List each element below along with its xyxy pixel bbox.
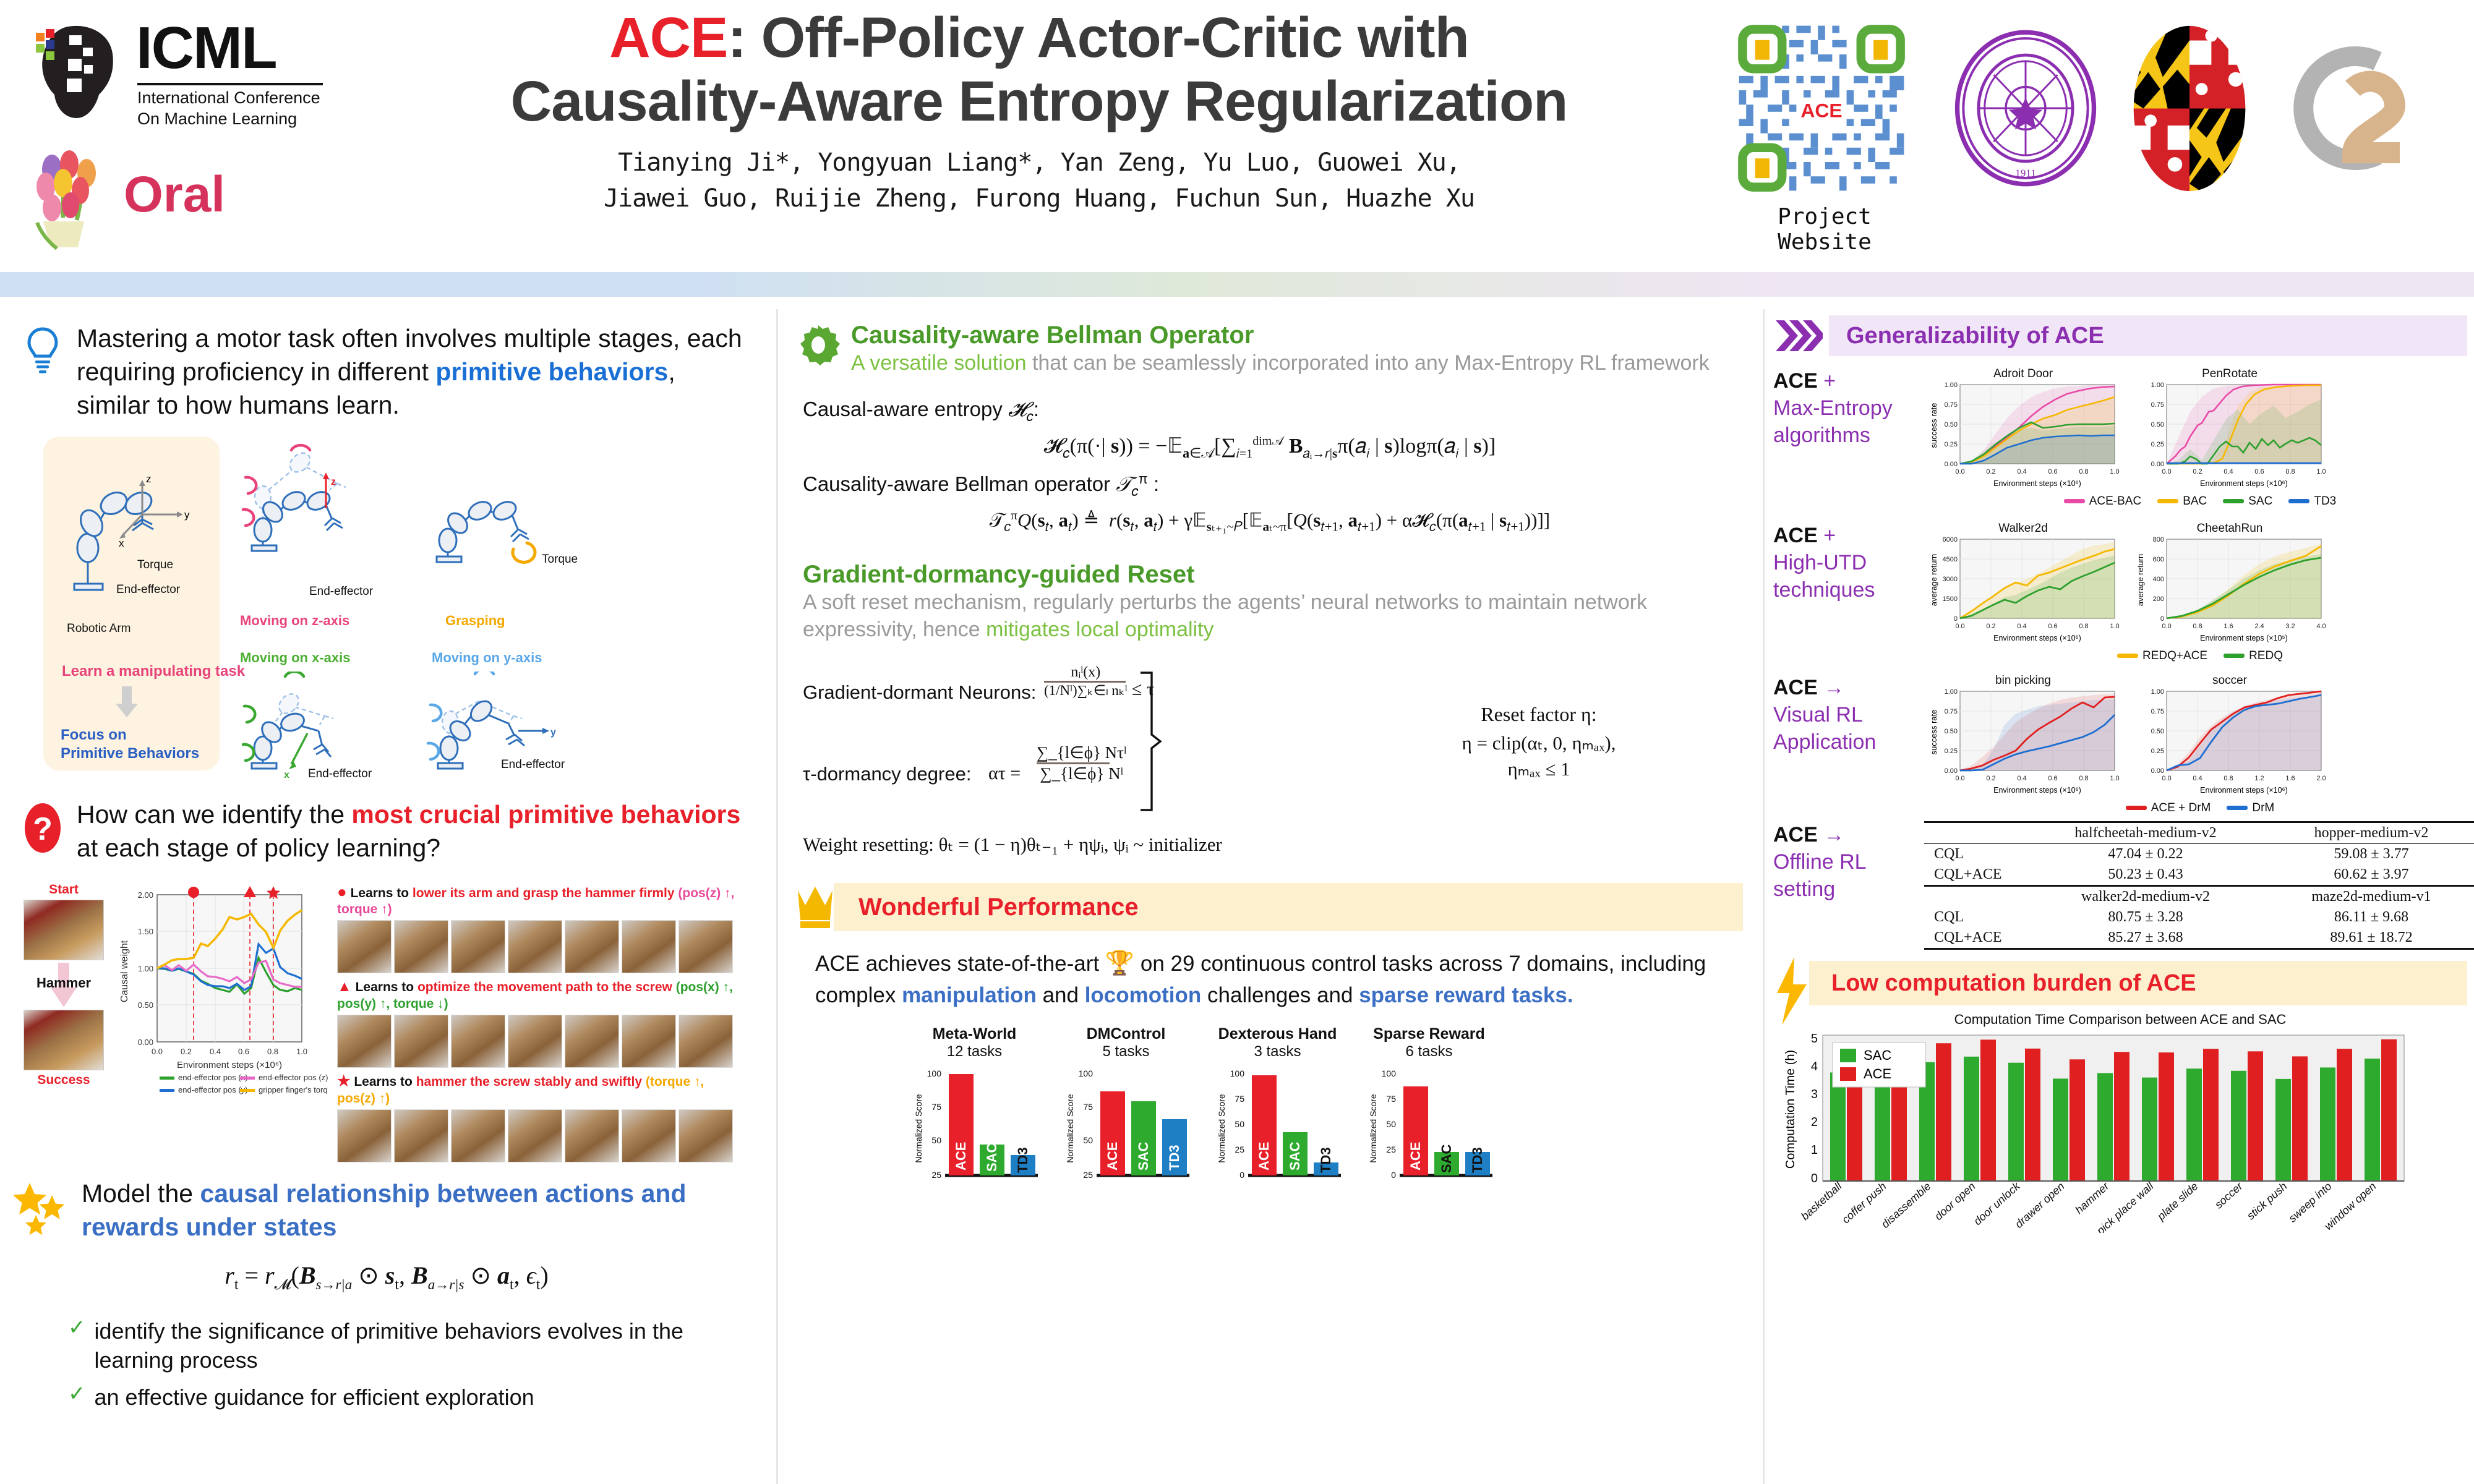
marker-triangle bbox=[244, 886, 256, 897]
task-frame-end bbox=[24, 1010, 104, 1070]
svg-text:25: 25 bbox=[931, 1170, 941, 1180]
causal-xlabel: Environment steps (×10⁶) bbox=[177, 1060, 282, 1070]
svg-text:50: 50 bbox=[1083, 1135, 1093, 1145]
svg-text:0.0: 0.0 bbox=[152, 1047, 163, 1056]
film-frame bbox=[622, 1109, 676, 1162]
icml-logo: ICML International Conference On Machine… bbox=[25, 19, 371, 124]
svg-text:25: 25 bbox=[1083, 1170, 1093, 1180]
icml-subtitle: International Conference On Machine Lear… bbox=[137, 88, 320, 130]
reset-factor-block: Reset factor η: η = clip(αₜ, 0, ηₘₐₓ), η… bbox=[1341, 703, 1737, 780]
svg-text:0.0: 0.0 bbox=[1955, 775, 1964, 782]
svg-text:0.25: 0.25 bbox=[1945, 748, 1958, 755]
svg-text:TD3: TD3 bbox=[1166, 1145, 1182, 1171]
gen-row-visualrl: ACE → Visual RL Application bin picking bbox=[1773, 674, 2474, 815]
svg-text:0.00: 0.00 bbox=[2151, 461, 2164, 468]
svg-text:1: 1 bbox=[1811, 1143, 1818, 1157]
svg-text:0.8: 0.8 bbox=[2079, 775, 2088, 782]
performance-text: ACE achieves state-of-the-art 🏆 on 29 co… bbox=[815, 947, 1743, 1010]
check-text-0: identify the significance of primitive b… bbox=[95, 1317, 755, 1375]
question-block: ? How can we identify the most crucial p… bbox=[19, 798, 755, 864]
barchart-dexterous-hand: Dexterous Hand 3 tasks 1007550250 Normal… bbox=[1211, 1025, 1344, 1193]
svg-text:0.75: 0.75 bbox=[1945, 708, 1958, 715]
penrotate-title: PenRotate bbox=[2131, 367, 2329, 381]
svg-text:1.2: 1.2 bbox=[2254, 775, 2264, 782]
comp-cat-3: door open bbox=[1932, 1180, 1978, 1222]
author-line-2: Jiawei Guo, Ruijie Zheng, Furong Huang, … bbox=[427, 181, 1651, 216]
svg-text:y: y bbox=[184, 509, 190, 521]
svg-text:1.0: 1.0 bbox=[296, 1047, 307, 1056]
icml-divider bbox=[137, 83, 323, 85]
reset-factor-eq2: ηₘₐₓ ≤ 1 bbox=[1341, 758, 1737, 780]
svg-text:Environment steps (×10⁶): Environment steps (×10⁶) bbox=[1993, 786, 2081, 795]
svg-text:0: 0 bbox=[1391, 1170, 1396, 1180]
check-text-1: an effective guidance for efficient expl… bbox=[95, 1383, 534, 1412]
svg-text:0: 0 bbox=[2160, 615, 2164, 623]
film-frame bbox=[565, 920, 619, 973]
dormant-denominator: (1/Nˡ)∑ₖ∈ₗ nₖˡ bbox=[1044, 683, 1128, 699]
film-frame bbox=[451, 1015, 505, 1068]
stage-prefix-2: Learns to bbox=[354, 1075, 416, 1089]
legend-item-ace-drm: ACE + DrM bbox=[2126, 801, 2211, 815]
g2-lab-logo bbox=[2288, 31, 2437, 185]
offl-h0-c2: hopper-medium-v2 bbox=[2267, 822, 2474, 844]
reset-math-row: Gradient-dormant Neurons: nᵢˡ(x) (1/Nˡ)∑… bbox=[803, 664, 1737, 819]
visualrl-legend: ACE + DrM DrM bbox=[1924, 801, 2474, 815]
arm-torque-label: Torque bbox=[137, 558, 173, 572]
svg-text:0.25: 0.25 bbox=[2151, 748, 2164, 755]
bellman-sub-highlight: A versatile solution bbox=[851, 351, 1027, 375]
svg-text:average return: average return bbox=[1929, 554, 1938, 607]
svg-text:75: 75 bbox=[1386, 1094, 1396, 1104]
dormant-numerator: nᵢˡ(x) bbox=[1044, 664, 1128, 681]
check-icon: ✓ bbox=[68, 1383, 86, 1404]
reset-factor-title: Reset factor η: bbox=[1341, 703, 1737, 726]
dormant-neuron-label: Gradient-dormant Neurons: bbox=[803, 681, 1036, 704]
svg-text:1.0: 1.0 bbox=[2316, 468, 2326, 475]
title-ace-token: ACE bbox=[609, 6, 727, 69]
bellman-math: Causal-aware entropy 𝓗𝑐: 𝓗𝑐(π(·| s)) = −… bbox=[803, 398, 1737, 535]
stage-note-0: ● Learns to lower its arm and grasp the … bbox=[337, 882, 745, 917]
insight-block: Mastering a motor task often involves mu… bbox=[19, 322, 755, 422]
oral-label: Oral bbox=[124, 166, 225, 224]
svg-text:0.0: 0.0 bbox=[2162, 623, 2171, 630]
poster-header: ICML International Conference On Machine… bbox=[0, 0, 2474, 272]
offl-row-0-0: CQL 47.04 ± 0.22 59.08 ± 3.77 bbox=[1924, 844, 2474, 865]
gen-row-op-3: → bbox=[1818, 823, 1844, 846]
qr-center-label: ACE bbox=[1800, 99, 1842, 121]
generalizability-banner: Generalizability of ACE bbox=[1829, 315, 2467, 356]
task-progress-strip: Start Hammer Success bbox=[17, 882, 110, 1088]
film-frame bbox=[678, 920, 733, 973]
comp-legend-ace: ACE bbox=[1864, 1066, 1891, 1081]
stage-filmstrips: ● Learns to lower its arm and grasp the … bbox=[337, 882, 745, 1162]
trophy-icon: 🏆 bbox=[1105, 950, 1134, 976]
insight-text: Mastering a motor task often involves mu… bbox=[77, 322, 755, 422]
stage-marker-star-icon: ★ bbox=[337, 1073, 351, 1090]
dormancy-formulas: Gradient-dormant Neurons: nᵢˡ(x) (1/Nˡ)∑… bbox=[803, 664, 1341, 819]
svg-text:1.00: 1.00 bbox=[2151, 688, 2164, 696]
generalizability-title: Generalizability of ACE bbox=[1846, 323, 2104, 349]
entropy-equation: 𝓗𝑐(π(·| s)) = −𝔼a∈𝒜[∑𝑖=1dim𝒜 B𝑎ᵢ→𝑟|sπ(𝑎𝑖… bbox=[803, 433, 1737, 461]
barchart-sparse-reward: Sparse Reward 6 tasks 1007550250 Normali… bbox=[1363, 1025, 1496, 1193]
maxent-panels: Adroit Door bbox=[1924, 367, 2474, 492]
legend-item-td3: TD3 bbox=[2288, 495, 2336, 508]
low-computation-section: Low computation burden of ACE Computatio… bbox=[1773, 961, 2467, 1233]
svg-text:?: ? bbox=[33, 811, 53, 847]
bc-title-1: DMControl bbox=[1059, 1025, 1192, 1043]
svg-text:ACE: ACE bbox=[1256, 1142, 1272, 1171]
question-part-2: at each stage of policy learning? bbox=[77, 834, 440, 862]
svg-text:0.2: 0.2 bbox=[2193, 468, 2202, 475]
task-success-label: Success bbox=[17, 1073, 110, 1088]
svg-text:0.00: 0.00 bbox=[1945, 767, 1958, 775]
check-item-1: ✓ an effective guidance for efficient ex… bbox=[68, 1383, 755, 1412]
film-frame bbox=[508, 920, 562, 973]
gen-row-label-2: ACE → Visual RL Application bbox=[1773, 674, 1915, 756]
soccer-title: soccer bbox=[2131, 674, 2329, 688]
svg-text:75: 75 bbox=[1083, 1102, 1093, 1112]
comp-cat-6: hammer bbox=[2073, 1179, 2112, 1216]
bellman-header: Causality-aware Bellman Operator A versa… bbox=[797, 322, 1743, 377]
task-frame-start bbox=[24, 900, 104, 960]
legend-label-td3: TD3 bbox=[2314, 495, 2336, 508]
focus-line-1: Focus on bbox=[61, 726, 199, 744]
gen-row-label-3: ACE → Offline RL setting bbox=[1773, 821, 1915, 903]
legend-item-bac: BAC bbox=[2157, 495, 2207, 508]
poster-title-block: ACE: Off-Policy Actor-Critic with Causal… bbox=[427, 6, 1651, 216]
film-frame bbox=[678, 1015, 733, 1068]
bc-title-3: Sparse Reward bbox=[1363, 1025, 1496, 1043]
svg-text:1.00: 1.00 bbox=[2151, 382, 2164, 389]
svg-text:0.2: 0.2 bbox=[181, 1047, 192, 1056]
svg-text:3000: 3000 bbox=[1943, 576, 1958, 583]
stage-action-2: hammer the screw stably and swiftly bbox=[416, 1075, 642, 1089]
svg-text:0.4: 0.4 bbox=[2193, 775, 2202, 782]
causal-analysis-figure: Start Hammer Success bbox=[0, 882, 773, 1117]
film-frame bbox=[451, 1109, 505, 1162]
svg-text:0.4: 0.4 bbox=[210, 1047, 221, 1056]
generalizability-header: Generalizability of ACE bbox=[1773, 315, 2467, 356]
dormancy-degree-fraction: ∑_{l∈ϕ} Nτˡ ∑_{l∈ϕ} Nˡ bbox=[1037, 743, 1126, 783]
stage-action-0: lower its arm and grasp the hammer firml… bbox=[413, 886, 675, 900]
binpicking-title: bin picking bbox=[1924, 674, 2122, 688]
svg-text:z: z bbox=[331, 477, 336, 487]
robotic-arm-label: Robotic Arm bbox=[67, 622, 131, 636]
svg-text:success rate: success rate bbox=[1929, 403, 1938, 448]
chart-cheetahrun: CheetahRun bbox=[2131, 522, 2329, 647]
stage-prefix-0: Learns to bbox=[351, 886, 413, 900]
svg-text:75: 75 bbox=[931, 1102, 941, 1112]
gen-row-label-0: ACE + Max-Entropy algorithms bbox=[1773, 367, 1915, 450]
comp-cat-10: stick push bbox=[2245, 1180, 2290, 1222]
svg-text:0.8: 0.8 bbox=[2079, 468, 2088, 475]
gen-row-highutd: ACE + High-UTD techniques Walker2d bbox=[1773, 522, 2474, 663]
comp-cat-0: basketball bbox=[1799, 1179, 1844, 1222]
perf-hl-2: locomotion bbox=[1085, 983, 1202, 1007]
maxent-charts: Adroit Door bbox=[1924, 367, 2474, 508]
icml-subtitle-line2: On Machine Learning bbox=[137, 109, 320, 130]
question-mark-icon: ? bbox=[19, 798, 67, 853]
svg-text:0.00: 0.00 bbox=[2151, 767, 2164, 775]
svg-text:2: 2 bbox=[1811, 1115, 1818, 1129]
tsinghua-university-seal-icon: 1911 bbox=[1948, 25, 2103, 192]
offl-row-1-0: CQL 80.75 ± 3.28 86.11 ± 9.68 bbox=[1924, 907, 2474, 927]
perf-d: challenges and bbox=[1201, 983, 1359, 1007]
performance-banner: Wonderful Performance bbox=[834, 883, 1743, 931]
svg-text:Normalized Score: Normalized Score bbox=[1065, 1094, 1075, 1162]
offline-rl-table: halfcheetah-medium-v2 hopper-medium-v2 C… bbox=[1924, 821, 2474, 950]
focus-line-2: Primitive Behaviors bbox=[61, 744, 199, 763]
legend-label-bac: BAC bbox=[2183, 495, 2207, 508]
causal-weight-chart: 2.001.501.00 0.500.00 0.00.20.4 0.60.81.… bbox=[111, 885, 328, 1101]
offl-r11-c0: CQL+ACE bbox=[1924, 927, 2024, 949]
offl-row-1-1: CQL+ACE 85.27 ± 3.68 89.61 ± 18.72 bbox=[1924, 927, 2474, 949]
svg-text:3: 3 bbox=[1811, 1088, 1818, 1101]
stage-row-1: ▲ Learns to optimize the movement path t… bbox=[337, 978, 745, 1068]
title-rest: : Off-Policy Actor-Critic with bbox=[727, 6, 1468, 69]
reset-factor-eq1: η = clip(αₜ, 0, ηₘₐₓ), bbox=[1341, 732, 1737, 754]
chart-walker2d: Walker2d bbox=[1924, 522, 2122, 647]
svg-text:Computation Time (h): Computation Time (h) bbox=[1784, 1050, 1797, 1169]
weight-resetting-equation: Weight resetting: θₜ = (1 − η)θₜ₋₁ + ηψᵢ… bbox=[803, 834, 1737, 856]
svg-text:2.4: 2.4 bbox=[2254, 623, 2264, 630]
stage-action-1: optimize the movement path to the screw bbox=[417, 980, 672, 994]
svg-text:success rate: success rate bbox=[1929, 710, 1938, 755]
model-checks: ✓ identify the significance of primitive… bbox=[68, 1317, 755, 1412]
offl-h1-c1: walker2d-medium-v2 bbox=[2024, 886, 2267, 908]
svg-text:end-effector pos (z): end-effector pos (z) bbox=[259, 1073, 328, 1082]
perf-a: ACE achieves state-of-the-art bbox=[815, 952, 1105, 976]
film-frame bbox=[565, 1109, 619, 1162]
stage-row-0: ● Learns to lower its arm and grasp the … bbox=[337, 882, 745, 973]
focus-primitive-label: Focus on Primitive Behaviors bbox=[61, 726, 199, 763]
filmstrip-1 bbox=[337, 1015, 745, 1068]
maxent-legend: ACE-BAC BAC SAC TD3 bbox=[1924, 495, 2474, 508]
legend-label-drm: DrM bbox=[2252, 801, 2274, 814]
grasping-torque-label: Torque bbox=[542, 553, 578, 566]
perf-c: and bbox=[1037, 983, 1085, 1007]
film-frame bbox=[451, 920, 505, 973]
flower-bouquet-icon bbox=[25, 148, 118, 260]
film-frame bbox=[337, 920, 392, 973]
svg-text:Environment steps (×10⁶): Environment steps (×10⁶) bbox=[1993, 634, 2081, 642]
bellman-subtitle: A versatile solution that can be seamles… bbox=[851, 349, 1743, 377]
barchart-metaworld: Meta-World 12 tasks 100755025 Normalized… bbox=[908, 1025, 1041, 1193]
svg-text:0.75: 0.75 bbox=[2151, 708, 2164, 715]
svg-text:5: 5 bbox=[1811, 1032, 1818, 1046]
svg-text:SAC: SAC bbox=[984, 1143, 999, 1172]
column-left: Mastering a motor task often involves mu… bbox=[0, 309, 773, 1484]
svg-text:6000: 6000 bbox=[1943, 536, 1958, 544]
stage-row-2: ★ Learns to hammer the screw stably and … bbox=[337, 1073, 745, 1162]
gen-row-plain-3: ACE bbox=[1773, 823, 1818, 846]
svg-text:x: x bbox=[119, 537, 124, 549]
check-item-0: ✓ identify the significance of primitive… bbox=[68, 1317, 755, 1375]
chart-bin-picking: bin picking bbox=[1924, 674, 2122, 799]
offl-r01-c1: 50.23 ± 0.43 bbox=[2024, 864, 2267, 886]
film-frame bbox=[394, 1109, 448, 1162]
question-part-0: How can we identify the bbox=[77, 800, 351, 829]
svg-text:1.6: 1.6 bbox=[2224, 623, 2233, 630]
barchart-dmcontrol: DMControl 5 tasks 100755025 Normalized S… bbox=[1059, 1025, 1192, 1193]
perf-hl-1: manipulation bbox=[902, 983, 1037, 1007]
svg-text:0.50: 0.50 bbox=[1945, 728, 1958, 735]
svg-text:0.25: 0.25 bbox=[1945, 441, 1958, 448]
svg-text:1911: 1911 bbox=[2015, 167, 2036, 179]
arm-moving-z-diagram: z bbox=[232, 440, 393, 582]
performance-section: Wonderful Performance ACE achieves state… bbox=[797, 883, 1743, 1010]
svg-text:0.0: 0.0 bbox=[2162, 468, 2171, 475]
legend-item-sac: SAC bbox=[2223, 495, 2272, 508]
comp-cat-8: plate slide bbox=[2154, 1180, 2200, 1223]
svg-text:600: 600 bbox=[2153, 556, 2164, 563]
svg-text:ACE: ACE bbox=[953, 1142, 969, 1171]
entropy-lead: Causal-aware entropy 𝓗𝑐: bbox=[803, 398, 1737, 425]
svg-text:25: 25 bbox=[1386, 1145, 1396, 1154]
causal-ylabel: Causal weight bbox=[119, 940, 130, 1002]
bc-title-2: Dexterous Hand bbox=[1211, 1025, 1344, 1043]
svg-text:50: 50 bbox=[1386, 1119, 1396, 1129]
legend-item-drm: DrM bbox=[2227, 801, 2274, 815]
svg-text:1.0: 1.0 bbox=[2110, 468, 2119, 475]
offl-h0-c1: halfcheetah-medium-v2 bbox=[2024, 822, 2267, 844]
svg-text:0.50: 0.50 bbox=[138, 1000, 153, 1010]
x-end-effector-label: End-effector bbox=[308, 767, 372, 781]
arm-grasping-diagram bbox=[421, 463, 563, 586]
learn-task-label: Learn a manipulating task bbox=[62, 663, 245, 680]
gen-row-hl-2: Visual RL Application bbox=[1773, 703, 1876, 754]
visualrl-panels: bin picking bbox=[1924, 674, 2474, 799]
down-arrow-icon bbox=[113, 686, 141, 719]
svg-text:1.00: 1.00 bbox=[1945, 688, 1958, 696]
svg-text:0.8: 0.8 bbox=[2224, 775, 2233, 782]
arm-end-effector-label: End-effector bbox=[116, 583, 180, 597]
svg-text:ACE: ACE bbox=[1105, 1142, 1120, 1171]
utd-legend: REDQ+ACE REDQ bbox=[1924, 649, 2474, 663]
poster-root: ICML International Conference On Machine… bbox=[0, 0, 2474, 1484]
offl-r00-c0: CQL bbox=[1924, 844, 2024, 865]
svg-text:0.2: 0.2 bbox=[1986, 468, 1995, 475]
qr-caption: Project Website bbox=[1726, 204, 1924, 255]
hammer-arrow-wrap: Hammer bbox=[17, 963, 110, 1009]
svg-text:Environment steps (×10⁶): Environment steps (×10⁶) bbox=[2200, 786, 2288, 795]
chart-soccer: soccer bbox=[2131, 674, 2329, 799]
svg-text:1.6: 1.6 bbox=[2285, 775, 2295, 782]
svg-text:200: 200 bbox=[2153, 595, 2164, 603]
stage-note-2: ★ Learns to hammer the screw stably and … bbox=[337, 1073, 745, 1106]
insight-highlight: primitive behaviors bbox=[435, 357, 668, 386]
behavior-label-grasping: Grasping bbox=[445, 613, 505, 629]
svg-text:SAC: SAC bbox=[1136, 1141, 1151, 1171]
cheetahrun-title: CheetahRun bbox=[2131, 522, 2329, 535]
robot-arm-figure: z y x Torque End-effector Robotic Arm Le… bbox=[43, 437, 717, 777]
reset-subtitle: A soft reset mechanism, regularly pertur… bbox=[803, 589, 1737, 643]
offl-r10-c1: 80.75 ± 3.28 bbox=[2024, 907, 2267, 927]
walker2d-title: Walker2d bbox=[1924, 522, 2122, 535]
logo-strip: ACE Project Website 1911 bbox=[1732, 12, 2462, 260]
legend-item-redq-ace: REDQ+ACE bbox=[2117, 649, 2207, 663]
column-right: Generalizability of ACE ACE + Max-Entrop… bbox=[1763, 309, 2474, 1484]
svg-text:0.6: 0.6 bbox=[2048, 468, 2057, 475]
film-frame bbox=[622, 920, 676, 973]
author-line-1: Tianying Ji*, Yongyuan Liang*, Yan Zeng,… bbox=[427, 145, 1651, 181]
legend-label-ace-drm: ACE + DrM bbox=[2151, 801, 2211, 814]
author-list: Tianying Ji*, Yongyuan Liang*, Yan Zeng,… bbox=[427, 145, 1651, 216]
svg-text:0.50: 0.50 bbox=[2151, 728, 2164, 735]
svg-text:average return: average return bbox=[2136, 554, 2145, 607]
task-start-label: Start bbox=[17, 882, 110, 897]
svg-text:SAC: SAC bbox=[1287, 1141, 1303, 1171]
svg-text:0.8: 0.8 bbox=[2193, 623, 2202, 630]
stage-marker-circle-icon: ● bbox=[337, 882, 347, 901]
check-icon: ✓ bbox=[68, 1317, 86, 1338]
low-computation-title: Low computation burden of ACE bbox=[1831, 970, 2196, 997]
svg-text:gripper finger's torque: gripper finger's torque bbox=[259, 1085, 328, 1094]
svg-text:0.8: 0.8 bbox=[2079, 623, 2088, 630]
utd-charts: Walker2d bbox=[1924, 522, 2474, 663]
offl-h0-c0 bbox=[1924, 822, 2024, 844]
qr-code-icon[interactable]: ACE bbox=[1732, 19, 1911, 198]
stage-marker-triangle-icon: ▲ bbox=[337, 978, 352, 995]
legend-item-redq: REDQ bbox=[2224, 649, 2283, 663]
bc-sub-1: 5 tasks bbox=[1059, 1043, 1192, 1060]
legend-label-ace-bac: ACE-BAC bbox=[2089, 495, 2141, 508]
computation-time-chart: 543 210 Computation Time (h) bbox=[1773, 1029, 2416, 1233]
bc-sub-0: 12 tasks bbox=[908, 1043, 1041, 1060]
adroit-title: Adroit Door bbox=[1924, 367, 2122, 381]
svg-text:4.0: 4.0 bbox=[2316, 623, 2326, 630]
svg-text:0.4: 0.4 bbox=[2017, 468, 2026, 475]
icml-wordmark: ICML bbox=[136, 19, 276, 78]
svg-text:ACE: ACE bbox=[1408, 1142, 1423, 1171]
poster-title-line2: Causality-Aware Entropy Regularization bbox=[427, 70, 1651, 134]
svg-text:TD3: TD3 bbox=[1318, 1147, 1333, 1173]
svg-text:TD3: TD3 bbox=[1015, 1147, 1030, 1173]
stage-prefix-1: Learns to bbox=[356, 980, 417, 994]
crown-icon bbox=[793, 878, 837, 931]
comp-cat-11: sweep into bbox=[2286, 1180, 2334, 1224]
arm-moving-x-diagram: x bbox=[232, 672, 393, 780]
comp-legend-sac: SAC bbox=[1864, 1047, 1891, 1063]
gen-row-hl-0: Max-Entropy algorithms bbox=[1773, 396, 1893, 447]
svg-text:0.6: 0.6 bbox=[2254, 468, 2264, 475]
svg-text:0.8: 0.8 bbox=[267, 1047, 278, 1056]
film-frame bbox=[337, 1015, 392, 1068]
svg-text:0.0: 0.0 bbox=[1955, 623, 1964, 630]
svg-text:0.75: 0.75 bbox=[2151, 401, 2164, 409]
computation-chart-title: Computation Time Comparison between ACE … bbox=[1773, 1012, 2467, 1028]
film-frame bbox=[508, 1109, 562, 1162]
svg-text:4: 4 bbox=[1811, 1060, 1818, 1073]
poster-title-line1: ACE: Off-Policy Actor-Critic with bbox=[427, 6, 1651, 70]
comp-cat-9: soccer bbox=[2212, 1179, 2246, 1211]
svg-text:3.2: 3.2 bbox=[2285, 623, 2295, 630]
task-middle-label: Hammer bbox=[17, 975, 110, 991]
chart-adroit-door: Adroit Door bbox=[1924, 367, 2122, 492]
film-frame bbox=[508, 1015, 562, 1068]
film-frame bbox=[394, 920, 448, 973]
svg-text:Normalized Score: Normalized Score bbox=[1217, 1094, 1226, 1162]
offl-header-row-1: walker2d-medium-v2 maze2d-medium-v1 bbox=[1924, 886, 2474, 908]
offl-r00-c2: 59.08 ± 3.77 bbox=[2267, 844, 2474, 865]
svg-text:Normalized Score: Normalized Score bbox=[914, 1094, 923, 1162]
reset-title: Gradient-dormancy-guided Reset bbox=[803, 561, 1737, 589]
gen-row-op-0: + bbox=[1818, 369, 1836, 393]
film-frame bbox=[394, 1015, 448, 1068]
dormancy-degree-lhs: ατ = bbox=[988, 763, 1021, 784]
model-text: Model the causal relationship between ac… bbox=[82, 1177, 755, 1243]
gen-row-plain-1: ACE bbox=[1773, 524, 1818, 547]
